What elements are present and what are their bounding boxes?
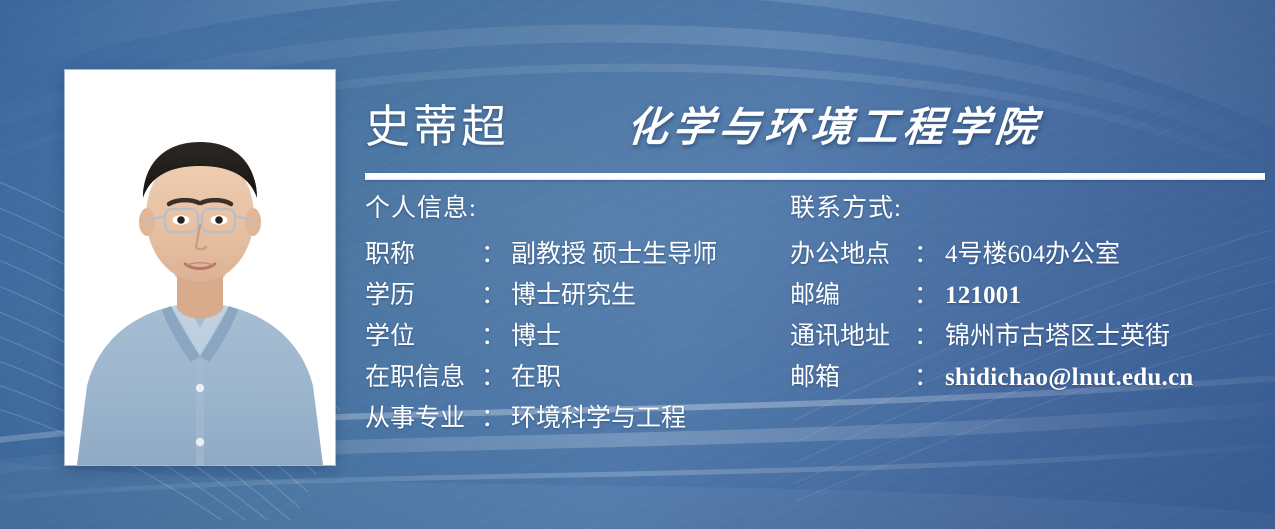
info-value-office: 4号楼604办公室 xyxy=(945,242,1120,267)
info-value-email: shidichao@lnut.edu.cn xyxy=(945,365,1193,390)
info-row-email: 邮箱： shidichao@lnut.edu.cn xyxy=(790,365,1260,406)
info-value-address: 锦州市古塔区士英街 xyxy=(945,324,1170,349)
info-row-specialty: 从事专业： 环境科学与工程 xyxy=(365,406,790,447)
info-label-postcode: 邮编： xyxy=(790,283,945,308)
info-row-title: 职称： 副教授 硕士生导师 xyxy=(365,242,790,283)
contact-info-section: 联系方式: 办公地点： 4号楼604办公室 邮编： 121001 通讯地址： 锦… xyxy=(790,196,1260,406)
portrait-illustration xyxy=(65,70,335,465)
page-title: 史蒂超 xyxy=(365,105,509,150)
portrait-photo xyxy=(65,70,335,465)
info-value-education: 博士研究生 xyxy=(511,283,636,308)
info-value-specialty: 环境科学与工程 xyxy=(511,406,686,431)
info-value-degree: 博士 xyxy=(511,324,561,349)
info-label-title: 职称： xyxy=(365,242,511,267)
info-value-employment: 在职 xyxy=(511,365,561,390)
info-label-specialty: 从事专业： xyxy=(365,406,511,431)
personal-info-section: 个人信息: 职称： 副教授 硕士生导师 学历： 博士研究生 学位： 博士 在职信… xyxy=(365,196,790,447)
info-row-employment: 在职信息： 在职 xyxy=(365,365,790,406)
info-value-postcode: 121001 xyxy=(945,283,1021,308)
info-row-education: 学历： 博士研究生 xyxy=(365,283,790,324)
header: 史蒂超 化学与环境工程学院 xyxy=(365,92,1265,162)
info-label-employment: 在职信息： xyxy=(365,365,511,390)
info-label-degree: 学位： xyxy=(365,324,511,349)
info-row-degree: 学位： 博士 xyxy=(365,324,790,365)
college-name: 化学与环境工程学院 xyxy=(625,107,1043,148)
info-row-postcode: 邮编： 121001 xyxy=(790,283,1260,324)
info-label-office: 办公地点： xyxy=(790,242,945,267)
contact-info-heading: 联系方式: xyxy=(790,196,1260,221)
info-row-office: 办公地点： 4号楼604办公室 xyxy=(790,242,1260,283)
info-value-title: 副教授 硕士生导师 xyxy=(511,242,717,267)
info-row-address: 通讯地址： 锦州市古塔区士英街 xyxy=(790,324,1260,365)
info-columns: 个人信息: 职称： 副教授 硕士生导师 学历： 博士研究生 学位： 博士 在职信… xyxy=(365,196,1265,476)
info-label-education: 学历： xyxy=(365,283,511,308)
header-divider xyxy=(365,173,1265,180)
info-label-email: 邮箱： xyxy=(790,365,945,390)
faculty-profile-card: 史蒂超 化学与环境工程学院 个人信息: 职称： 副教授 硕士生导师 学历： 博士… xyxy=(0,0,1275,529)
personal-info-heading: 个人信息: xyxy=(365,196,790,221)
info-label-address: 通讯地址： xyxy=(790,324,945,349)
